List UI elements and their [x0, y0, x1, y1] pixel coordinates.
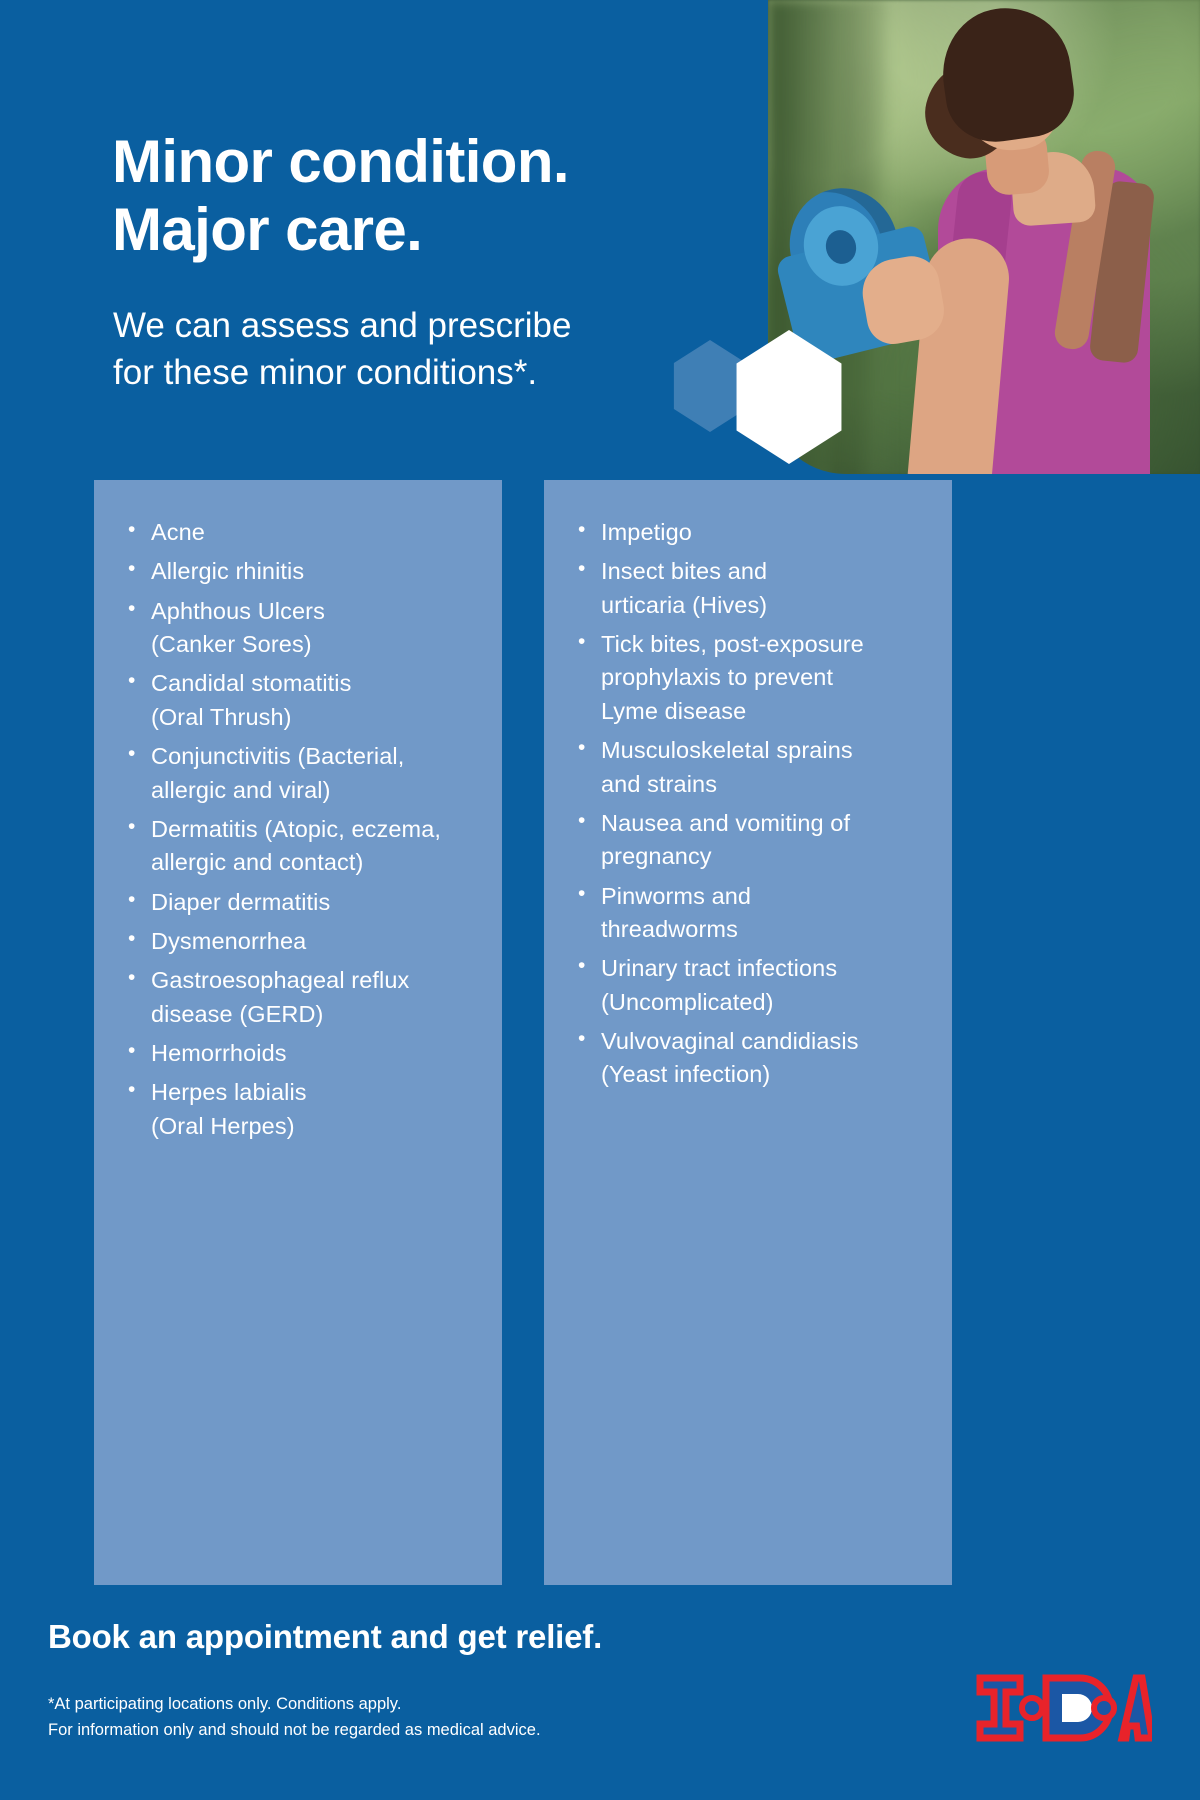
conditions-list-right: ImpetigoInsect bites and urticaria (Hive…	[570, 516, 926, 1092]
condition-item: Dermatitis (Atopic, eczema, allergic and…	[120, 813, 476, 880]
conditions-panels: AcneAllergic rhinitisAphthous Ulcers (Ca…	[94, 480, 1106, 1585]
conditions-list-left: AcneAllergic rhinitisAphthous Ulcers (Ca…	[120, 516, 476, 1143]
condition-item: Candidal stomatitis (Oral Thrush)	[120, 667, 476, 734]
condition-item: Urinary tract infections (Uncomplicated)	[570, 952, 926, 1019]
page-subtitle: We can assess and prescribe for these mi…	[113, 303, 571, 396]
condition-item: Musculoskeletal sprains and strains	[570, 734, 926, 801]
condition-item: Allergic rhinitis	[120, 555, 476, 588]
cta-text: Book an appointment and get relief.	[48, 1618, 602, 1656]
conditions-panel-right: ImpetigoInsect bites and urticaria (Hive…	[544, 480, 952, 1585]
condition-item: Conjunctivitis (Bacterial, allergic and …	[120, 740, 476, 807]
condition-item: Vulvovaginal candidiasis (Yeast infectio…	[570, 1025, 926, 1092]
poster-canvas: Minor condition. Major care. We can asse…	[0, 0, 1200, 1800]
condition-item: Hemorrhoids	[120, 1037, 476, 1070]
ida-logo-icon	[976, 1672, 1152, 1744]
condition-item: Tick bites, post-exposure prophylaxis to…	[570, 628, 926, 728]
condition-item: Pinworms and threadworms	[570, 880, 926, 947]
condition-item: Impetigo	[570, 516, 926, 549]
condition-item: Aphthous Ulcers (Canker Sores)	[120, 595, 476, 662]
condition-item: Dysmenorrhea	[120, 925, 476, 958]
ida-logo	[976, 1672, 1152, 1744]
condition-item: Diaper dermatitis	[120, 886, 476, 919]
condition-item: Insect bites and urticaria (Hives)	[570, 555, 926, 622]
page-title: Minor condition. Major care.	[112, 128, 569, 265]
condition-item: Gastroesophageal reflux disease (GERD)	[120, 964, 476, 1031]
condition-item: Herpes labialis (Oral Herpes)	[120, 1076, 476, 1143]
conditions-panel-left: AcneAllergic rhinitisAphthous Ulcers (Ca…	[94, 480, 502, 1585]
condition-item: Nausea and vomiting of pregnancy	[570, 807, 926, 874]
condition-item: Acne	[120, 516, 476, 549]
disclaimer-text: *At participating locations only. Condit…	[48, 1692, 541, 1743]
